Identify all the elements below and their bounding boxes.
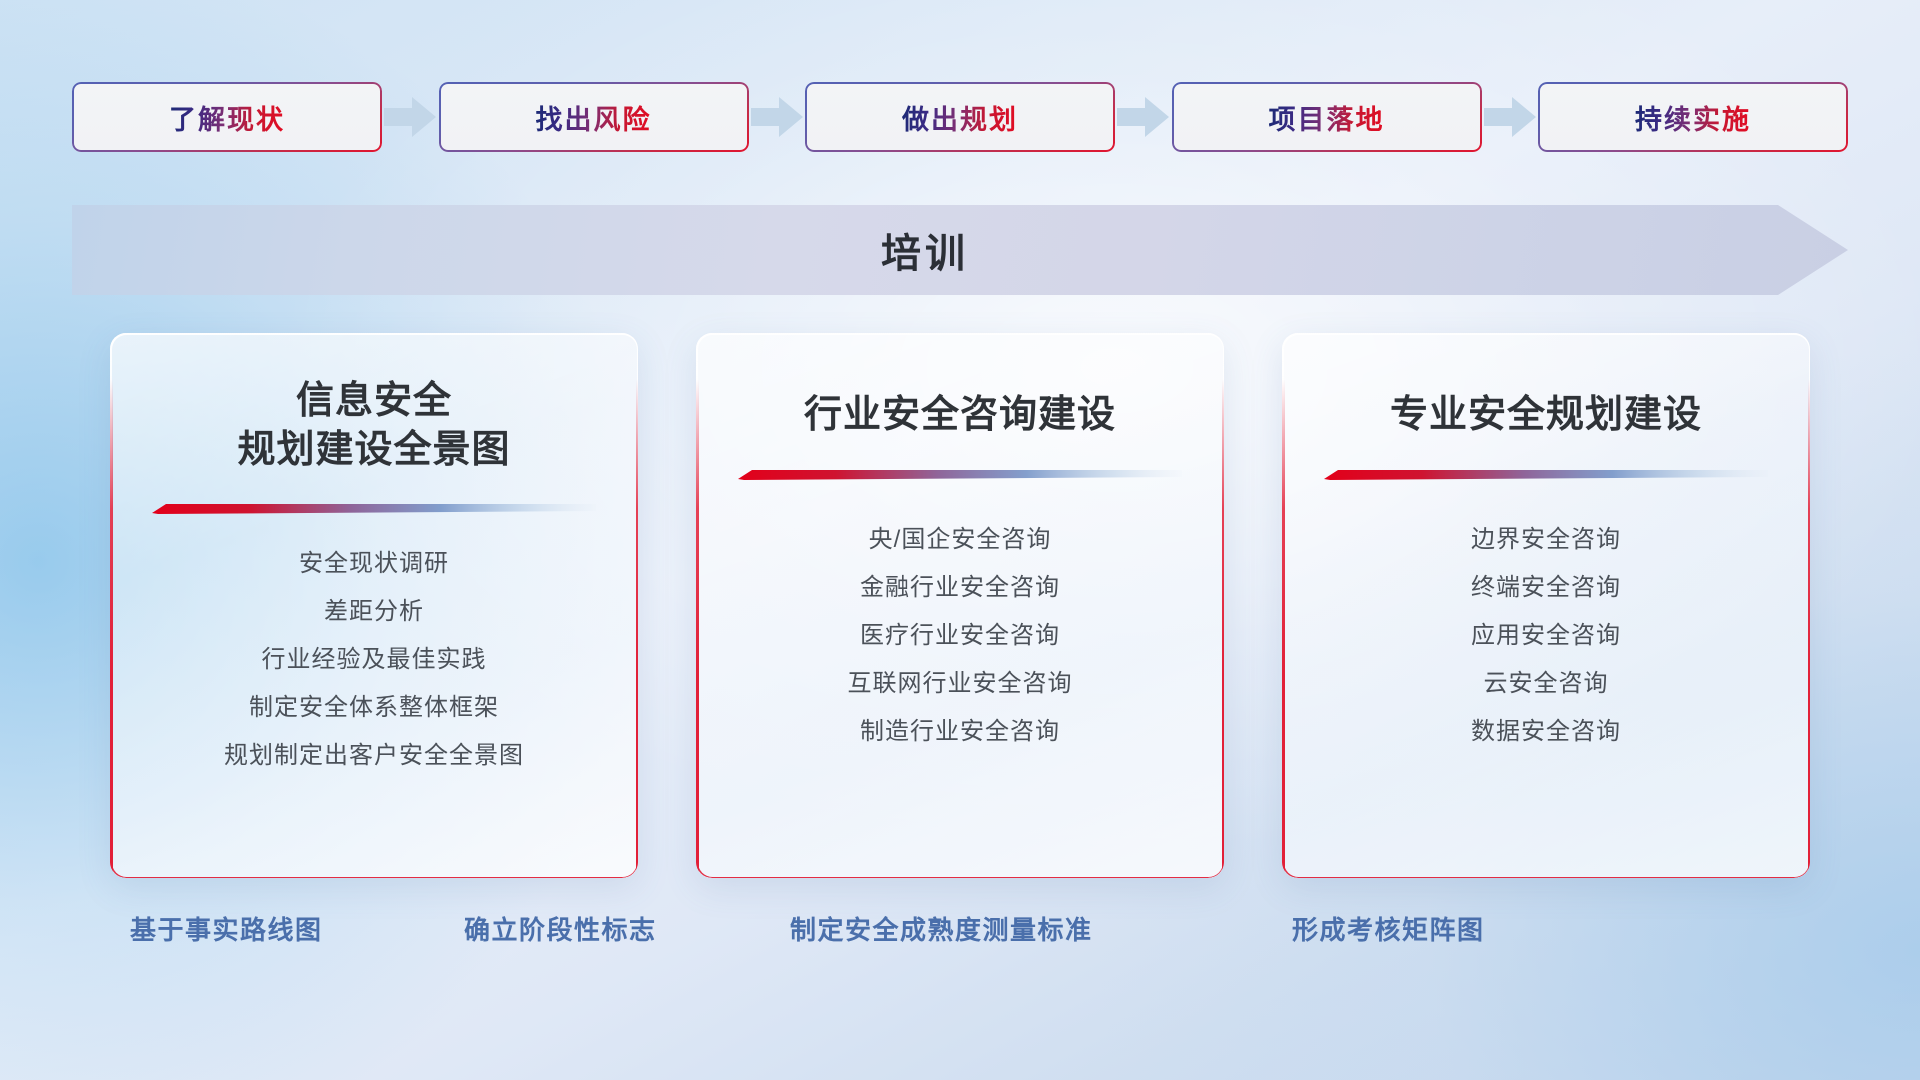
footer-label-4: 形成考核矩阵图 (1292, 910, 1485, 947)
step-label-3: 做出规划 (902, 98, 1018, 137)
process-step-row: 了解现状 找出风险 做出规划 项目落地 持续实施 (72, 78, 1848, 156)
step-box-1[interactable]: 了解现状 (72, 82, 382, 152)
banner-title: 培训 (72, 205, 1778, 295)
card-information-security-blueprint[interactable]: 信息安全 规划建设全景图 安全现状调研 差 (110, 333, 638, 878)
card-professional-security-planning[interactable]: 专业安全规划建设 边界安全咨询 终端安全咨询 (1282, 333, 1810, 878)
card-accent-bar-2 (738, 466, 1182, 482)
footer-label-3: 制定安全成熟度测量标准 (790, 910, 1093, 947)
card-row: 信息安全 规划建设全景图 安全现状调研 差 (110, 333, 1810, 878)
list-item: 终端安全咨询 (1471, 570, 1621, 606)
step-arrow-icon-4 (1482, 95, 1539, 139)
card-industry-security-consulting[interactable]: 行业安全咨询建设 央/国企安全咨询 金融行业安全咨询 (696, 333, 1224, 878)
step-arrow-icon-2 (749, 95, 806, 139)
list-item: 制定安全体系整体框架 (249, 690, 499, 726)
list-item: 互联网行业安全咨询 (848, 666, 1073, 702)
card-list-3: 边界安全咨询 终端安全咨询 应用安全咨询 云安全咨询 数据安全咨询 (1471, 522, 1621, 750)
list-item: 规划制定出客户安全全景图 (224, 738, 524, 774)
list-item: 医疗行业安全咨询 (860, 618, 1060, 654)
list-item: 边界安全咨询 (1471, 522, 1621, 558)
card-title-line: 信息安全 (237, 377, 510, 426)
list-item: 云安全咨询 (1484, 666, 1609, 702)
step-label-5: 持续实施 (1635, 98, 1751, 137)
card-title-1: 信息安全 规划建设全景图 (237, 377, 510, 474)
step-arrow-icon-1 (382, 95, 439, 139)
footer-label-row: 基于事实路线图 确立阶段性标志 制定安全成熟度测量标准 形成考核矩阵图 (0, 910, 1920, 958)
list-item: 制造行业安全咨询 (860, 714, 1060, 750)
card-list-1: 安全现状调研 差距分析 行业经验及最佳实践 制定安全体系整体框架 规划制定出客户… (224, 546, 524, 774)
card-title-3: 专业安全规划建设 (1390, 391, 1702, 440)
card-title-line: 专业安全规划建设 (1390, 391, 1702, 440)
list-item: 差距分析 (324, 594, 424, 630)
list-item: 金融行业安全咨询 (860, 570, 1060, 606)
step-box-2[interactable]: 找出风险 (439, 82, 749, 152)
card-list-2: 央/国企安全咨询 金融行业安全咨询 医疗行业安全咨询 互联网行业安全咨询 制造行… (848, 522, 1073, 750)
list-item: 央/国企安全咨询 (869, 522, 1052, 558)
step-box-5[interactable]: 持续实施 (1538, 82, 1848, 152)
step-label-2: 找出风险 (536, 98, 652, 137)
footer-label-2: 确立阶段性标志 (464, 910, 657, 947)
training-banner: 培训 (72, 205, 1848, 295)
card-title-line: 规划建设全景图 (237, 426, 510, 475)
step-label-1: 了解现状 (169, 98, 285, 137)
list-item: 应用安全咨询 (1471, 618, 1621, 654)
card-title-line: 行业安全咨询建设 (804, 391, 1116, 440)
list-item: 数据安全咨询 (1471, 714, 1621, 750)
card-title-2: 行业安全咨询建设 (804, 391, 1116, 440)
step-label-4: 项目落地 (1269, 98, 1385, 137)
footer-label-1: 基于事实路线图 (130, 910, 323, 947)
list-item: 行业经验及最佳实践 (262, 642, 487, 678)
card-accent-bar-3 (1324, 466, 1768, 482)
card-accent-bar-1 (152, 500, 596, 516)
step-box-4[interactable]: 项目落地 (1172, 82, 1482, 152)
list-item: 安全现状调研 (299, 546, 449, 582)
step-box-3[interactable]: 做出规划 (805, 82, 1115, 152)
step-arrow-icon-3 (1115, 95, 1172, 139)
